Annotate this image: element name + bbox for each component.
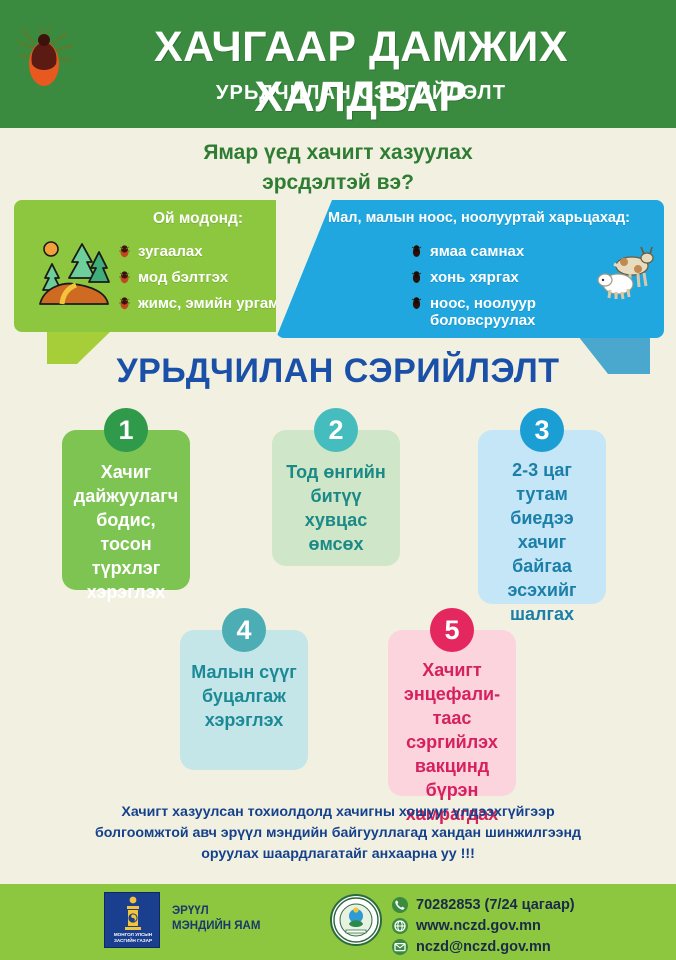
livestock-panel-heading: Мал, малын ноос, ноолууртай харьцахад: [276,200,664,226]
list-item: хонь хяргах [410,269,610,286]
risk-question: Ямар үед хачигт хазуулах эрсдэлтэй вэ? [0,138,676,198]
warning-text: Хачигт хазуулсан тохиолдолд хачигны хошу… [40,802,636,865]
warning-line2: болгоомжтой авч эрүүл мэндийн байгууллаг… [40,823,636,844]
livestock-risk-list: ямаа самнах хонь хяргах ноос, ноолуур бо… [410,234,610,329]
prevention-card-3: 3 2-3 цаг тутам биедээ хачиг байгаа эсэх… [478,430,606,604]
header-banner: ХАЧГААР ДАМЖИХ ХАЛДВАР УРЬДЧИЛАН СЭРГИЙЛ… [0,0,676,128]
contact-email[interactable]: nczd@nczd.gov.mn [392,938,575,956]
phone-icon [392,897,408,913]
footer-bar: МОНГОЛ УЛСЫН ЗАСГИЙН ГАЗАР ЭРҮҮЛ МЭНДИЙН… [0,884,676,960]
tick-bullet-icon [118,270,131,288]
prevention-card-2: 2 Тод өнгийн битүү хувцас өмсөх [272,430,400,566]
risk-question-line2: эрсдэлтэй вэ? [0,168,676,198]
step-badge-4: 4 [222,608,266,652]
step-badge-5: 5 [430,608,474,652]
warning-line3: оруулах шаардлагатайг анхаарна уу !!! [40,844,636,865]
prevention-card-5: 5 Хачигт энцефали-таас сэргийлэх вакцинд… [388,630,516,796]
prevention-card-5-text: Хачигт энцефали-таас сэргийлэх вакцинд б… [388,630,516,826]
list-item-label: ноос, ноолуур боловсруулах [430,295,536,329]
contact-list: 70282853 (7/24 цагаар) www.nczd.gov.mn n… [392,896,575,959]
tick-bullet-icon [410,296,423,314]
list-item: ямаа самнах [410,243,610,260]
list-item-label: мод бэлтгэх [138,269,228,286]
prevention-card-4: 4 Малын сүүг буцалгаж хэрэглэх [180,630,308,770]
tick-bullet-icon [410,244,423,262]
forest-icon [36,236,112,317]
list-item-label: хонь хяргах [430,269,519,286]
contact-phone: 70282853 (7/24 цагаар) [392,896,575,914]
panel-diagonal-notch [276,200,332,338]
prevention-card-3-text: 2-3 цаг тутам биедээ хачиг байгаа эсэхий… [478,430,606,626]
contact-email-text: nczd@nczd.gov.mn [416,939,551,955]
contact-website-text: www.nczd.gov.mn [416,918,541,934]
envelope-icon [392,939,408,955]
ministry-line-1: ЭРҮҮЛ [172,904,260,919]
list-item-label: зугаалах [138,243,203,260]
risk-question-line1: Ямар үед хачигт хазуулах [0,138,676,168]
globe-icon [392,918,408,934]
prevention-card-1: 1 Хачиг дайжуулагч бодис, тосон түрхлэг … [62,430,190,590]
warning-line1: Хачигт хазуулсан тохиолдолд хачигны хошу… [40,802,636,823]
government-emblem-icon: МОНГОЛ УЛСЫН ЗАСГИЙН ГАЗАР [104,892,160,948]
tick-bullet-icon [118,296,131,314]
tick-bullet-icon [410,270,423,288]
risk-panel-livestock: Мал, малын ноос, ноолууртай харьцахад: [276,200,664,338]
header-subtitle: УРЬДЧИЛАН СЭРГИЙЛЭЛТ [58,82,664,105]
contact-phone-text: 70282853 (7/24 цагаар) [416,897,575,913]
nczd-seal-icon [330,894,382,946]
government-emblem-label: МОНГОЛ УЛСЫН ЗАСГИЙН ГАЗАР [105,932,161,944]
ministry-line-2: МЭНДИЙН ЯАМ [172,919,260,934]
step-badge-1: 1 [104,408,148,452]
contact-website[interactable]: www.nczd.gov.mn [392,917,575,935]
prevention-card-1-text: Хачиг дайжуулагч бодис, тосон түрхлэг хэ… [62,430,190,604]
list-item-label: ямаа самнах [430,243,524,260]
tick-bullet-icon [118,244,131,262]
prevention-section-title: УРЬДЧИЛАН СЭРИЙЛЭЛТ [0,352,676,391]
header-title: ХАЧГААР ДАМЖИХ ХАЛДВАР [58,22,664,122]
list-item: ноос, ноолуур боловсруулах [410,295,610,329]
step-badge-2: 2 [314,408,358,452]
ministry-name: ЭРҮҮЛ МЭНДИЙН ЯАМ [172,904,260,934]
step-badge-3: 3 [520,408,564,452]
poster-root: ХАЧГААР ДАМЖИХ ХАЛДВАР УРЬДЧИЛАН СЭРГИЙЛ… [0,0,676,960]
